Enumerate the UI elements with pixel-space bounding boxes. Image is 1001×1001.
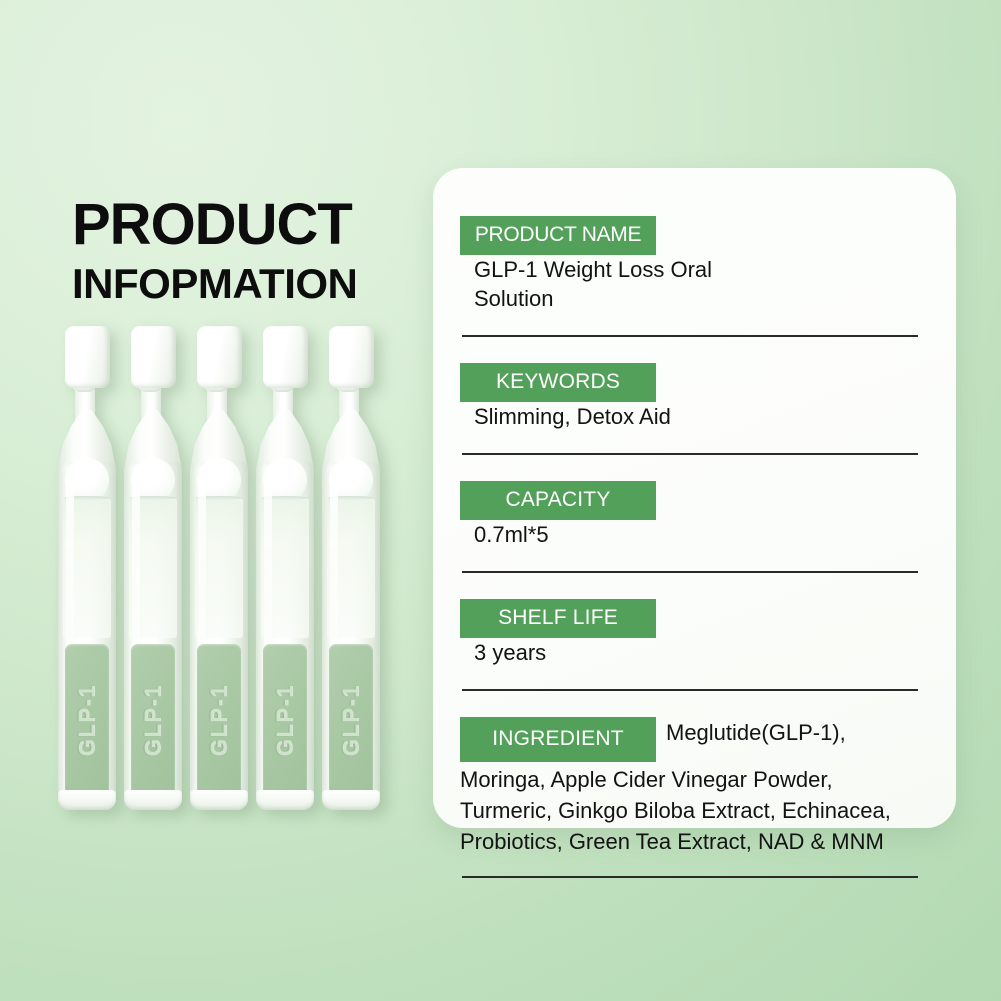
vial-label-text: GLP-1 [140,684,166,756]
vial-ampoule: GLP-1 [56,322,118,814]
vial-base [124,790,182,810]
info-row-product-name: PRODUCT NAMEGLP-1 Weight Loss Oral Solut… [460,216,916,313]
vial-cap [263,326,308,388]
spacer [460,691,916,717]
info-label-keywords: KEYWORDS [460,363,656,402]
vial-label-text: GLP-1 [74,684,100,756]
spacer [460,313,916,335]
vial-label-text: GLP-1 [272,684,298,756]
vial-cap [131,326,176,388]
spacer [460,549,916,571]
vial-base [190,790,248,810]
title-line-primary: PRODUCT [72,196,412,254]
vial-label-panel: GLP-1 [263,644,307,796]
spacer [460,431,916,453]
vial-ampoule: GLP-1 [320,322,382,814]
info-label-shelf-life: SHELF LIFE [460,599,656,638]
vial-label-text: GLP-1 [206,684,232,756]
vial-label-panel: GLP-1 [131,644,175,796]
vial-cap [65,326,110,388]
vial-cap [197,326,242,388]
vial-ampoule: GLP-1 [122,322,184,814]
info-label-product-name: PRODUCT NAME [460,216,656,255]
info-row-shelf-life: SHELF LIFE3 years [460,599,916,667]
vial-base [256,790,314,810]
info-label-capacity: CAPACITY [460,481,656,520]
spacer [460,573,916,599]
info-row-keywords: KEYWORDSSlimming, Detox Aid [460,363,916,431]
info-value-keywords: Slimming, Detox Aid [460,402,730,431]
row-divider [462,876,918,878]
info-value-shelf-life: 3 years [460,638,730,667]
vial-label-text: GLP-1 [338,684,364,756]
vial-label-panel: GLP-1 [197,644,241,796]
title-line-secondary: INFOPMATION [72,260,412,307]
info-row-capacity: CAPACITY0.7ml*5 [460,481,916,549]
product-info-card: PRODUCT NAMEGLP-1 Weight Loss Oral Solut… [433,168,956,828]
vial-cap [329,326,374,388]
spacer [460,337,916,363]
info-value-capacity: 0.7ml*5 [460,520,730,549]
info-value-product-name: GLP-1 Weight Loss Oral Solution [460,255,730,313]
spacer [460,667,916,689]
info-row-ingredient: INGREDIENTMeglutide(GLP-1), Moringa, App… [460,717,916,858]
spacer [460,858,916,876]
info-label-ingredient: INGREDIENT [460,717,656,762]
spacer [460,455,916,481]
vial-label-panel: GLP-1 [329,644,373,796]
vial-ampoule: GLP-1 [188,322,250,814]
product-information-poster: PRODUCT INFOPMATION GLP-1 [0,0,1001,1001]
vial-label-panel: GLP-1 [65,644,109,796]
vial-ampoule: GLP-1 [254,322,316,814]
vial-base [58,790,116,810]
vial-base [322,790,380,810]
page-title: PRODUCT INFOPMATION [72,196,412,307]
product-vials-illustration: GLP-1 GLP-1 [56,322,406,822]
